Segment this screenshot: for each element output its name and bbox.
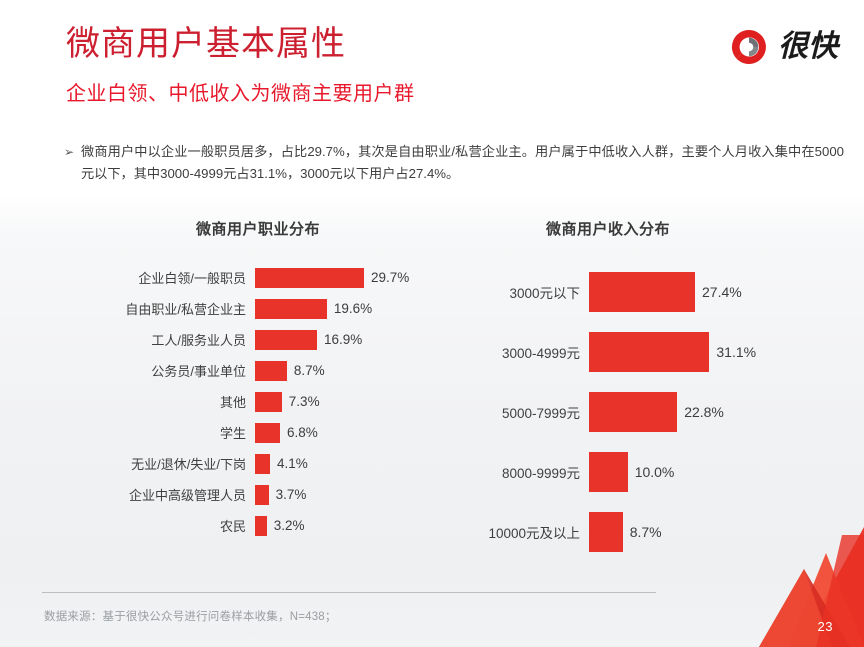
footer-divider	[42, 592, 656, 593]
slide-header: 微商用户基本属性 企业白领、中低收入为微商主要用户群 很快	[0, 0, 864, 122]
bar-track: 19.6%	[255, 299, 460, 319]
bar-value-label: 7.3%	[282, 394, 320, 409]
lead-paragraph: ➢ 微商用户中以企业一般职员居多，占比29.7%，其次是自由职业/私营企业主。用…	[64, 141, 844, 185]
chart-occupation-title: 微商用户职业分布	[60, 218, 456, 242]
bar-category-label: 企业白领/一般职员	[60, 268, 255, 287]
bar-fill	[589, 392, 677, 432]
bar-category-label: 农民	[60, 516, 255, 535]
bar-row: 3000元以下27.4%	[458, 262, 858, 322]
lead-paragraph-text: 微商用户中以企业一般职员居多，占比29.7%，其次是自由职业/私营企业主。用户属…	[81, 141, 844, 185]
bar-value-label: 27.4%	[695, 284, 742, 300]
bar-track: 10.0%	[589, 452, 858, 492]
bar-value-label: 22.8%	[677, 404, 724, 420]
bar-category-label: 工人/服务业人员	[60, 330, 255, 349]
bar-fill	[589, 452, 628, 492]
bar-row: 3000-4999元31.1%	[458, 322, 858, 382]
chart-occupation-distribution: 微商用户职业分布 企业白领/一般职员29.7%自由职业/私营企业主19.6%工人…	[60, 218, 460, 541]
bar-value-label: 3.7%	[269, 487, 307, 502]
bar-fill	[255, 392, 282, 412]
bar-row: 8000-9999元10.0%	[458, 442, 858, 502]
bar-category-label: 3000元以下	[458, 282, 589, 302]
bar-value-label: 8.7%	[623, 524, 662, 540]
logo-mark-icon	[729, 27, 769, 67]
bar-track: 8.7%	[255, 361, 460, 381]
bar-track: 4.1%	[255, 454, 460, 474]
brand-logo: 很快	[729, 27, 838, 67]
bar-fill	[255, 299, 327, 319]
bar-row: 自由职业/私营企业主19.6%	[60, 293, 460, 324]
chart-income-distribution: 微商用户收入分布 3000元以下27.4%3000-4999元31.1%5000…	[458, 218, 858, 562]
bar-row: 企业白领/一般职员29.7%	[60, 262, 460, 293]
bar-row: 企业中高级管理人员3.7%	[60, 479, 460, 510]
bar-value-label: 16.9%	[317, 332, 362, 347]
bar-track: 29.7%	[255, 268, 460, 288]
bar-category-label: 自由职业/私营企业主	[60, 299, 255, 318]
bar-category-label: 学生	[60, 423, 255, 442]
bar-value-label: 8.7%	[287, 363, 325, 378]
bar-category-label: 公务员/事业单位	[60, 361, 255, 380]
bar-row: 10000元及以上8.7%	[458, 502, 858, 562]
bar-row: 5000-7999元22.8%	[458, 382, 858, 442]
bar-row: 工人/服务业人员16.9%	[60, 324, 460, 355]
bar-value-label: 10.0%	[628, 464, 675, 480]
bar-category-label: 无业/退休/失业/下岗	[60, 454, 255, 473]
bar-row: 学生6.8%	[60, 417, 460, 448]
logo-brand-text: 很快	[778, 31, 838, 63]
chart-occupation-rows: 企业白领/一般职员29.7%自由职业/私营企业主19.6%工人/服务业人员16.…	[60, 262, 460, 541]
bar-category-label: 企业中高级管理人员	[60, 485, 255, 504]
data-source-note: 数据来源：基于很快公众号进行问卷样本收集，N=438；	[44, 608, 337, 624]
bar-track: 6.8%	[255, 423, 460, 443]
bar-value-label: 6.8%	[280, 425, 318, 440]
page-title: 微商用户基本属性	[66, 22, 346, 66]
bar-category-label: 3000-4999元	[458, 342, 589, 362]
bar-category-label: 5000-7999元	[458, 402, 589, 422]
bullet-arrow-icon: ➢	[64, 141, 81, 163]
bar-value-label: 4.1%	[270, 456, 308, 471]
bar-value-label: 29.7%	[364, 270, 409, 285]
bar-track: 16.9%	[255, 330, 460, 350]
chart-income-title: 微商用户收入分布	[458, 218, 758, 242]
slide-root: 微商用户基本属性 企业白领、中低收入为微商主要用户群 很快 ➢ 微商用户中以企业…	[0, 0, 864, 647]
bar-fill	[255, 485, 269, 505]
chart-income-rows: 3000元以下27.4%3000-4999元31.1%5000-7999元22.…	[458, 262, 858, 562]
bar-fill	[255, 330, 317, 350]
bar-fill	[255, 268, 364, 288]
bar-category-label: 8000-9999元	[458, 462, 589, 482]
bar-fill	[255, 423, 280, 443]
bar-row: 其他7.3%	[60, 386, 460, 417]
bar-row: 无业/退休/失业/下岗4.1%	[60, 448, 460, 479]
bar-row: 农民3.2%	[60, 510, 460, 541]
bar-track: 22.8%	[589, 392, 858, 432]
bar-fill	[255, 454, 270, 474]
bar-fill	[589, 512, 623, 552]
page-number: 23	[818, 619, 833, 634]
bar-category-label: 其他	[60, 392, 255, 411]
bar-track: 7.3%	[255, 392, 460, 412]
bar-row: 公务员/事业单位8.7%	[60, 355, 460, 386]
bar-value-label: 3.2%	[267, 518, 305, 533]
bar-track: 3.7%	[255, 485, 460, 505]
bar-value-label: 19.6%	[327, 301, 372, 316]
bar-fill	[255, 361, 287, 381]
bar-fill	[589, 272, 695, 312]
charts-area: 微商用户职业分布 企业白领/一般职员29.7%自由职业/私营企业主19.6%工人…	[0, 218, 864, 568]
bar-track: 3.2%	[255, 516, 460, 536]
bar-track: 31.1%	[589, 332, 858, 372]
bar-track: 8.7%	[589, 512, 858, 552]
page-subtitle: 企业白领、中低收入为微商主要用户群	[66, 80, 415, 108]
bar-value-label: 31.1%	[709, 344, 756, 360]
bar-category-label: 10000元及以上	[458, 522, 589, 542]
bar-fill	[589, 332, 709, 372]
bar-track: 27.4%	[589, 272, 858, 312]
bar-fill	[255, 516, 267, 536]
